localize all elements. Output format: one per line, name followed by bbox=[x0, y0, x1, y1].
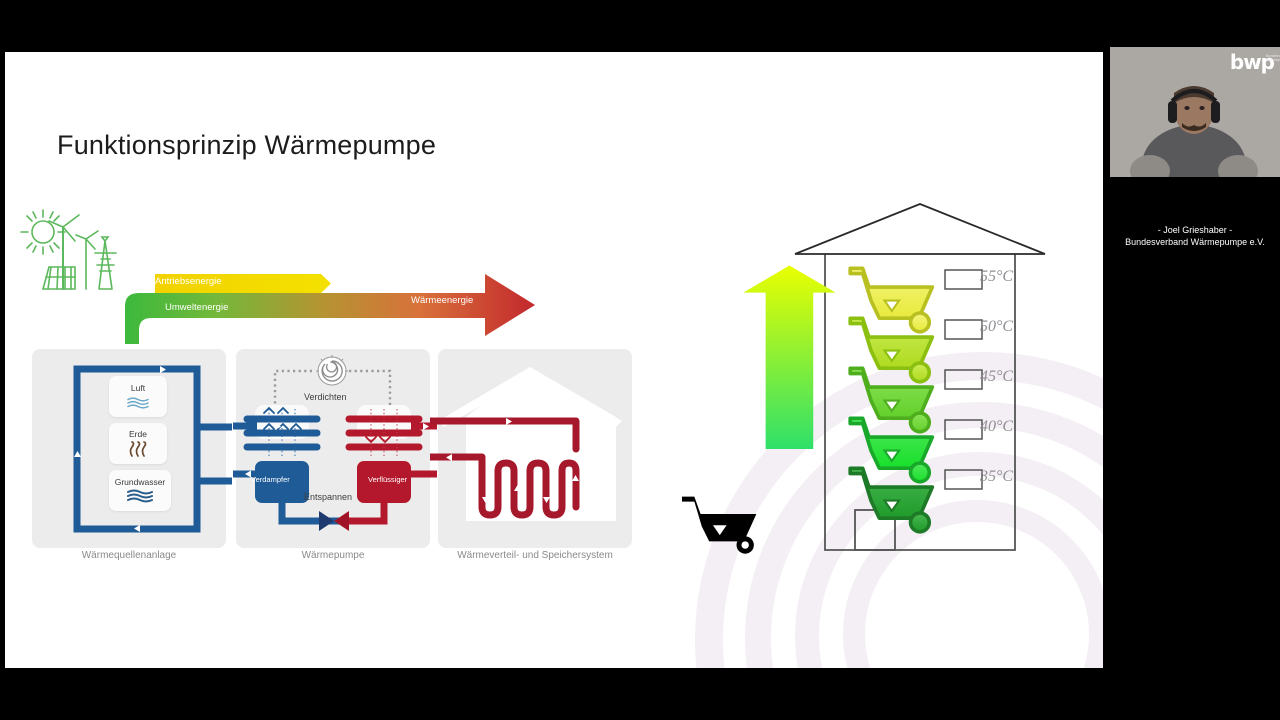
expansion-valve-icon bbox=[319, 511, 349, 531]
caption-distribution: Wärmeverteil- und Speichersystem bbox=[435, 550, 635, 561]
presentation-slide: Funktionsprinzip Wärmepumpe bbox=[5, 52, 1103, 668]
building-temperature-diagram: 55°C 50°C 45°C 40°C 35°C bbox=[665, 192, 1065, 572]
temperature-label: 45°C bbox=[980, 368, 1013, 386]
condenser-unit bbox=[349, 405, 437, 521]
source-label: Grundwasser bbox=[115, 478, 166, 487]
webcam-overlay[interactable]: bwp Bundesverband Wärmepumpe - Joel Grie… bbox=[1110, 47, 1280, 210]
label-umweltenergie: Umweltenergie bbox=[165, 302, 228, 313]
speaker-organization: Bundesverband Wärmepumpe e.V. bbox=[1110, 237, 1280, 247]
speaker-name: - Joel Grieshaber - bbox=[1110, 225, 1280, 235]
source-chip-erde: Erde bbox=[109, 423, 167, 464]
webcam-bwp-subtitle: Bundesverband Wärmepumpe bbox=[1266, 54, 1278, 63]
heat-pump-circuit bbox=[233, 349, 437, 549]
up-arrow-icon bbox=[743, 265, 835, 449]
headphone-left bbox=[1168, 101, 1177, 123]
temperature-label: 35°C bbox=[980, 468, 1013, 486]
temperature-box bbox=[945, 270, 982, 289]
source-chip-grundwasser: Grundwasser bbox=[109, 470, 171, 511]
temperature-box bbox=[945, 320, 982, 339]
label-verdampfer: Verdampfer bbox=[251, 475, 290, 484]
webcam-video[interactable]: bwp Bundesverband Wärmepumpe bbox=[1110, 47, 1280, 177]
ground-heat-icon bbox=[127, 441, 149, 457]
temperature-label: 50°C bbox=[980, 318, 1013, 336]
label-verfluessiger: Verflüssiger bbox=[368, 475, 407, 484]
wheelbarrow-icon bbox=[682, 497, 756, 554]
house-with-floor-heating-icon bbox=[430, 349, 638, 549]
source-label: Luft bbox=[131, 384, 145, 393]
temperature-label: 40°C bbox=[980, 418, 1013, 436]
temperature-box bbox=[945, 420, 982, 439]
headphone-right bbox=[1211, 101, 1220, 123]
air-waves-icon bbox=[125, 396, 151, 409]
label-entspannen: Entspannen bbox=[304, 492, 352, 502]
source-chip-luft: Luft bbox=[109, 376, 167, 417]
label-verdichten: Verdichten bbox=[304, 392, 347, 402]
caption-heat-source: Wärmequellenanlage bbox=[29, 550, 229, 561]
water-waves-icon bbox=[125, 489, 155, 503]
source-label: Erde bbox=[129, 430, 147, 439]
page-title: Funktionsprinzip Wärmepumpe bbox=[57, 130, 436, 161]
label-antriebsenergie: Antriebsenergie bbox=[155, 276, 222, 287]
caption-heat-pump: Wärmepumpe bbox=[233, 550, 433, 561]
temperature-box bbox=[945, 470, 982, 489]
label-waermeenergie: Wärmeenergie bbox=[411, 295, 473, 306]
evaporator-unit bbox=[233, 405, 351, 521]
screen: Funktionsprinzip Wärmepumpe bbox=[0, 0, 1280, 720]
temperature-label: 55°C bbox=[980, 268, 1013, 286]
compressor-spiral-icon bbox=[316, 355, 348, 385]
temperature-box bbox=[945, 370, 982, 389]
renewable-energy-icon bbox=[13, 197, 128, 297]
